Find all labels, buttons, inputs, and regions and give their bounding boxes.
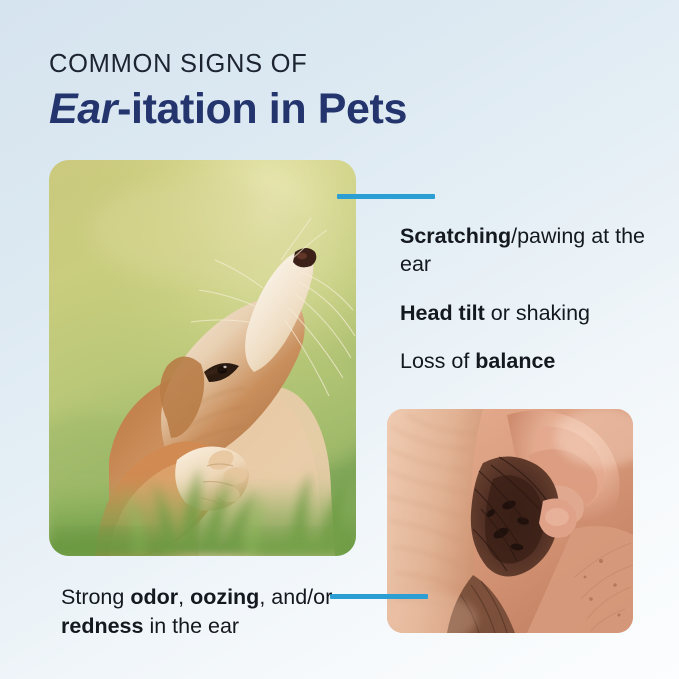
heading-block: COMMON SIGNS OF Ear-itation in Pets xyxy=(49,50,629,133)
irritated-ear-photo xyxy=(387,409,633,633)
caption-bold-redness: redness xyxy=(61,614,143,638)
caption-part-1: Strong xyxy=(61,585,130,609)
symptom-head-tilt-bold: Head tilt xyxy=(400,301,485,325)
symptom-item-head-tilt: Head tilt or shaking xyxy=(400,299,662,327)
dog-scratching-photo xyxy=(49,160,356,556)
title-remainder: -itation in Pets xyxy=(117,85,407,133)
caption-bold-oozing: oozing xyxy=(190,585,259,609)
symptom-item-balance: Loss of balance xyxy=(400,347,662,375)
symptom-list: Scratching/pawing at the ear Head tilt o… xyxy=(400,222,662,376)
symptom-head-tilt-rest: or shaking xyxy=(485,301,590,325)
symptom-scratching-bold: Scratching xyxy=(400,224,511,248)
bottom-caption: Strong odor, oozing, and/or redness in t… xyxy=(61,583,351,641)
title-emphasis-ear: Ear xyxy=(49,85,117,133)
infographic-canvas: COMMON SIGNS OF Ear-itation in Pets xyxy=(0,0,679,679)
accent-rule-top xyxy=(337,194,435,199)
symptom-item-scratching: Scratching/pawing at the ear xyxy=(400,222,662,279)
caption-part-2: , xyxy=(178,585,190,609)
symptom-balance-lead: Loss of xyxy=(400,349,475,373)
page-title: Ear-itation in Pets xyxy=(49,85,629,133)
caption-part-4: in the ear xyxy=(143,614,239,638)
eyebrow-text: COMMON SIGNS OF xyxy=(49,50,629,79)
caption-part-3: , and/or xyxy=(259,585,332,609)
caption-bold-odor: odor xyxy=(130,585,178,609)
symptom-balance-bold: balance xyxy=(475,349,555,373)
